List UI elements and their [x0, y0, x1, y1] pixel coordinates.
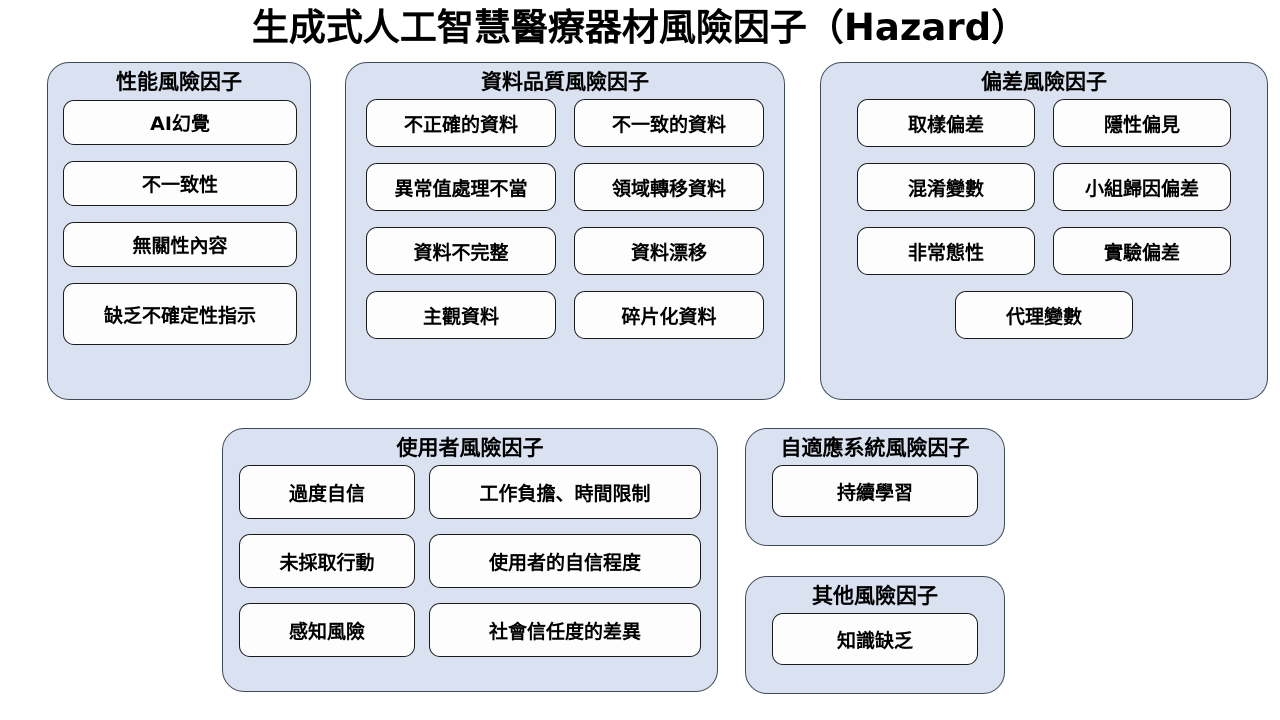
risk-item[interactable]: 隱性偏見 [1053, 99, 1231, 147]
risk-item[interactable]: 知識缺乏 [772, 613, 978, 665]
group-items: 不正確的資料 不一致的資料 異常值處理不當 領域轉移資料 資料不完整 資料漂移 … [346, 96, 784, 339]
risk-item[interactable]: 工作負擔、時間限制 [429, 465, 701, 519]
risk-item[interactable]: 社會信任度的差異 [429, 603, 701, 657]
group-data-quality-risk-factors: 資料品質風險因子 不正確的資料 不一致的資料 異常值處理不當 領域轉移資料 資料… [345, 62, 785, 400]
group-performance-risk-factors: 性能風險因子 AI幻覺 不一致性 無關性內容 缺乏不確定性指示 [47, 62, 311, 400]
group-adaptive-system-risk-factors: 自適應系統風險因子 持續學習 [745, 428, 1005, 546]
risk-item[interactable]: 混淆變數 [857, 163, 1035, 211]
page-title: 生成式人工智慧醫療器材風險因子（Hazard） [0, 4, 1280, 52]
group-title: 資料品質風險因子 [346, 63, 784, 96]
group-items: AI幻覺 不一致性 無關性內容 缺乏不確定性指示 [48, 96, 310, 345]
risk-item[interactable]: 碎片化資料 [574, 291, 764, 339]
risk-item[interactable]: 小組歸因偏差 [1053, 163, 1231, 211]
risk-item[interactable]: 領域轉移資料 [574, 163, 764, 211]
risk-item[interactable]: 非常態性 [857, 227, 1035, 275]
risk-item[interactable]: 主觀資料 [366, 291, 556, 339]
risk-item[interactable]: 缺乏不確定性指示 [63, 283, 297, 345]
risk-item[interactable]: 未採取行動 [239, 534, 415, 588]
group-items: 持續學習 [746, 462, 1004, 517]
group-title: 自適應系統風險因子 [746, 429, 1004, 462]
risk-item[interactable]: 資料不完整 [366, 227, 556, 275]
risk-item[interactable]: 實驗偏差 [1053, 227, 1231, 275]
risk-item[interactable]: 無關性內容 [63, 222, 297, 267]
group-items: 知識缺乏 [746, 610, 1004, 665]
risk-item[interactable]: 資料漂移 [574, 227, 764, 275]
risk-item[interactable]: 不一致性 [63, 161, 297, 206]
risk-item[interactable]: 代理變數 [955, 291, 1133, 339]
group-items: 過度自信 工作負擔、時間限制 未採取行動 使用者的自信程度 感知風險 社會信任度… [223, 462, 717, 657]
risk-item[interactable]: 異常值處理不當 [366, 163, 556, 211]
group-title: 性能風險因子 [48, 63, 310, 96]
group-items: 取樣偏差 隱性偏見 混淆變數 小組歸因偏差 非常態性 實驗偏差 代理變數 [821, 96, 1267, 339]
risk-item[interactable]: 取樣偏差 [857, 99, 1035, 147]
group-title: 其他風險因子 [746, 577, 1004, 610]
group-bias-risk-factors: 偏差風險因子 取樣偏差 隱性偏見 混淆變數 小組歸因偏差 非常態性 實驗偏差 代… [820, 62, 1268, 400]
risk-item[interactable]: 使用者的自信程度 [429, 534, 701, 588]
group-other-risk-factors: 其他風險因子 知識缺乏 [745, 576, 1005, 694]
risk-item[interactable]: 持續學習 [772, 465, 978, 517]
risk-item[interactable]: AI幻覺 [63, 100, 297, 145]
group-title: 使用者風險因子 [223, 429, 717, 462]
group-title: 偏差風險因子 [821, 63, 1267, 96]
risk-item[interactable]: 過度自信 [239, 465, 415, 519]
group-user-risk-factors: 使用者風險因子 過度自信 工作負擔、時間限制 未採取行動 使用者的自信程度 感知… [222, 428, 718, 692]
risk-item[interactable]: 感知風險 [239, 603, 415, 657]
risk-item[interactable]: 不一致的資料 [574, 99, 764, 147]
risk-item[interactable]: 不正確的資料 [366, 99, 556, 147]
